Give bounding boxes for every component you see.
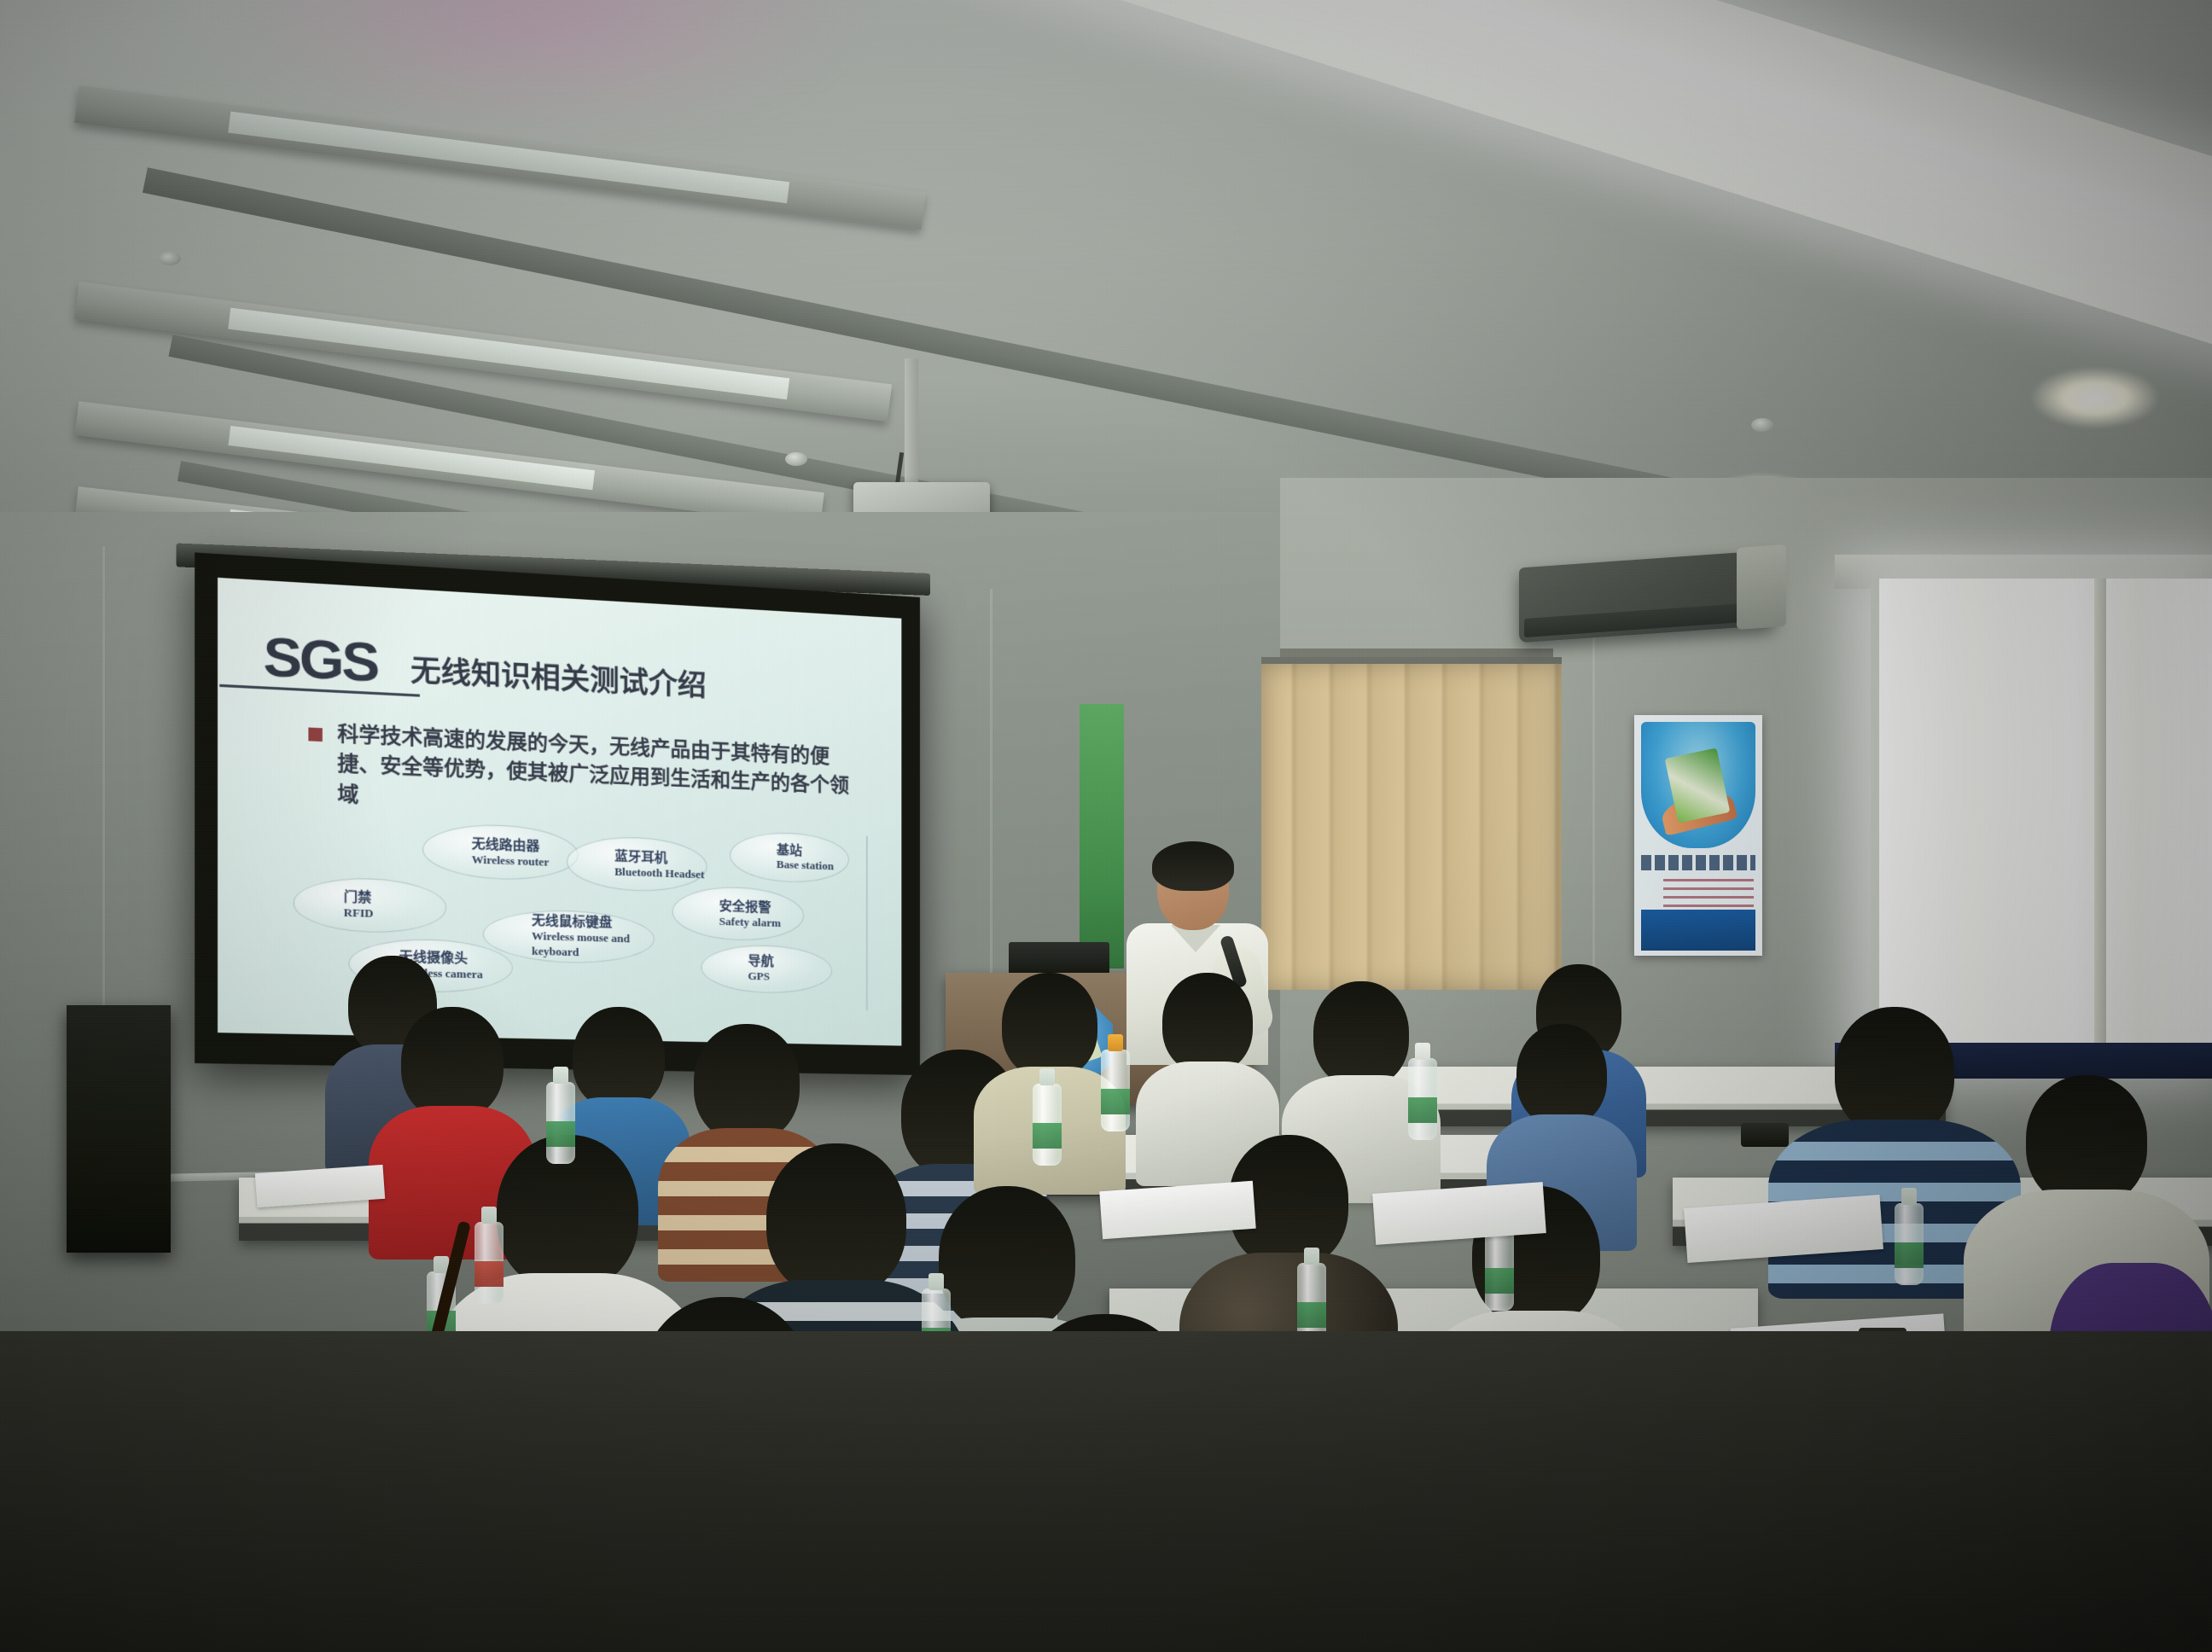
recessed-downlight <box>2031 367 2159 428</box>
head <box>1835 1007 1954 1137</box>
bubble-label-en: Bluetooth Headset <box>614 864 706 882</box>
diagram-bubble: 安全报警Safety alarm <box>672 885 805 942</box>
smoke-detector-icon <box>159 252 181 265</box>
water-bottle <box>1408 1058 1437 1140</box>
water-bottle <box>1101 1050 1130 1131</box>
poster-hand-graphic <box>1659 787 1738 836</box>
head <box>401 1007 504 1120</box>
green-wall-banner <box>1080 704 1124 969</box>
bubble-label-en: Wireless mouse and keyboard <box>532 929 654 963</box>
sprinkler-icon <box>1751 418 1773 432</box>
wall-seam <box>1592 597 1595 1024</box>
window-mullion <box>2094 579 2106 1056</box>
wall-seam <box>990 589 992 1032</box>
water-bottle <box>1895 1203 1924 1285</box>
fluorescent-tube <box>228 308 789 400</box>
bubble-label-en: GPS <box>748 969 831 986</box>
head <box>1516 1024 1607 1126</box>
floor <box>0 1331 2212 1652</box>
poster-headline <box>1641 855 1755 870</box>
wall-seam <box>102 546 105 1024</box>
water-bottle <box>546 1082 575 1164</box>
slide-title: 无线知识相关测试介绍 <box>410 646 706 711</box>
diagram-bubble: 门禁RFID <box>294 876 447 934</box>
bubble-label-cn: 导航 <box>748 953 831 972</box>
bubble-label-en: Base station <box>777 858 848 875</box>
bubble-label-en: Safety alarm <box>719 914 803 931</box>
wall-speaker <box>67 1005 171 1253</box>
ceiling-skylight-strip <box>851 0 2212 480</box>
head <box>766 1143 906 1297</box>
water-bottle <box>1485 1229 1514 1311</box>
water-bottle <box>1033 1084 1062 1166</box>
head <box>1002 973 1097 1079</box>
glasses-icon <box>1164 882 1224 893</box>
slide-bullet-text: 科学技术高速的发展的今天，无线产品由于其特有的便捷、安全等优势，使其被广泛应用到… <box>337 720 866 831</box>
window <box>1871 579 2212 1056</box>
window-blinds <box>1261 657 1562 990</box>
water-bottle <box>474 1222 504 1304</box>
projector-mount <box>905 358 918 491</box>
poster-artwork <box>1641 722 1755 848</box>
slide-bullet: 科学技术高速的发展的今天，无线产品由于其特有的便捷、安全等优势，使其被广泛应用到… <box>308 718 865 831</box>
slide-header: SGS 无线知识相关测试介绍 <box>261 611 876 719</box>
diagram-bubble: 无线路由器Wireless router <box>422 823 579 882</box>
head <box>1313 981 1409 1087</box>
diagram-bubble: 蓝牙耳机Bluetooth Headset <box>567 835 707 894</box>
air-conditioner-end-cap <box>1737 544 1786 630</box>
diagram-bubble: 基站Base station <box>730 830 849 884</box>
bubble-label-en: Wireless router <box>472 852 578 871</box>
presentation-slide: SGS 无线知识相关测试介绍 科学技术高速的发展的今天，无线产品由于其特有的便捷… <box>218 578 901 1046</box>
head <box>694 1024 800 1142</box>
head <box>1162 973 1253 1073</box>
head <box>573 1007 665 1109</box>
classroom-photo: SGS 无线知识相关测试介绍 科学技术高速的发展的今天，无线产品由于其特有的便捷… <box>0 0 2212 1652</box>
bullet-marker-icon <box>308 727 322 742</box>
wall-poster <box>1634 715 1762 956</box>
sgs-logo: SGS <box>261 635 387 695</box>
projection-screen: SGS 无线知识相关测试介绍 科学技术高速的发展的今天，无线产品由于其特有的便捷… <box>195 552 920 1075</box>
head <box>2026 1075 2147 1207</box>
mobile-phone <box>1741 1123 1789 1147</box>
bubble-label-en: RFID <box>344 905 446 923</box>
poster-footer-band <box>1641 910 1755 951</box>
diagram-bubble: 导航GPS <box>701 943 832 994</box>
smoke-detector-icon <box>785 452 807 466</box>
